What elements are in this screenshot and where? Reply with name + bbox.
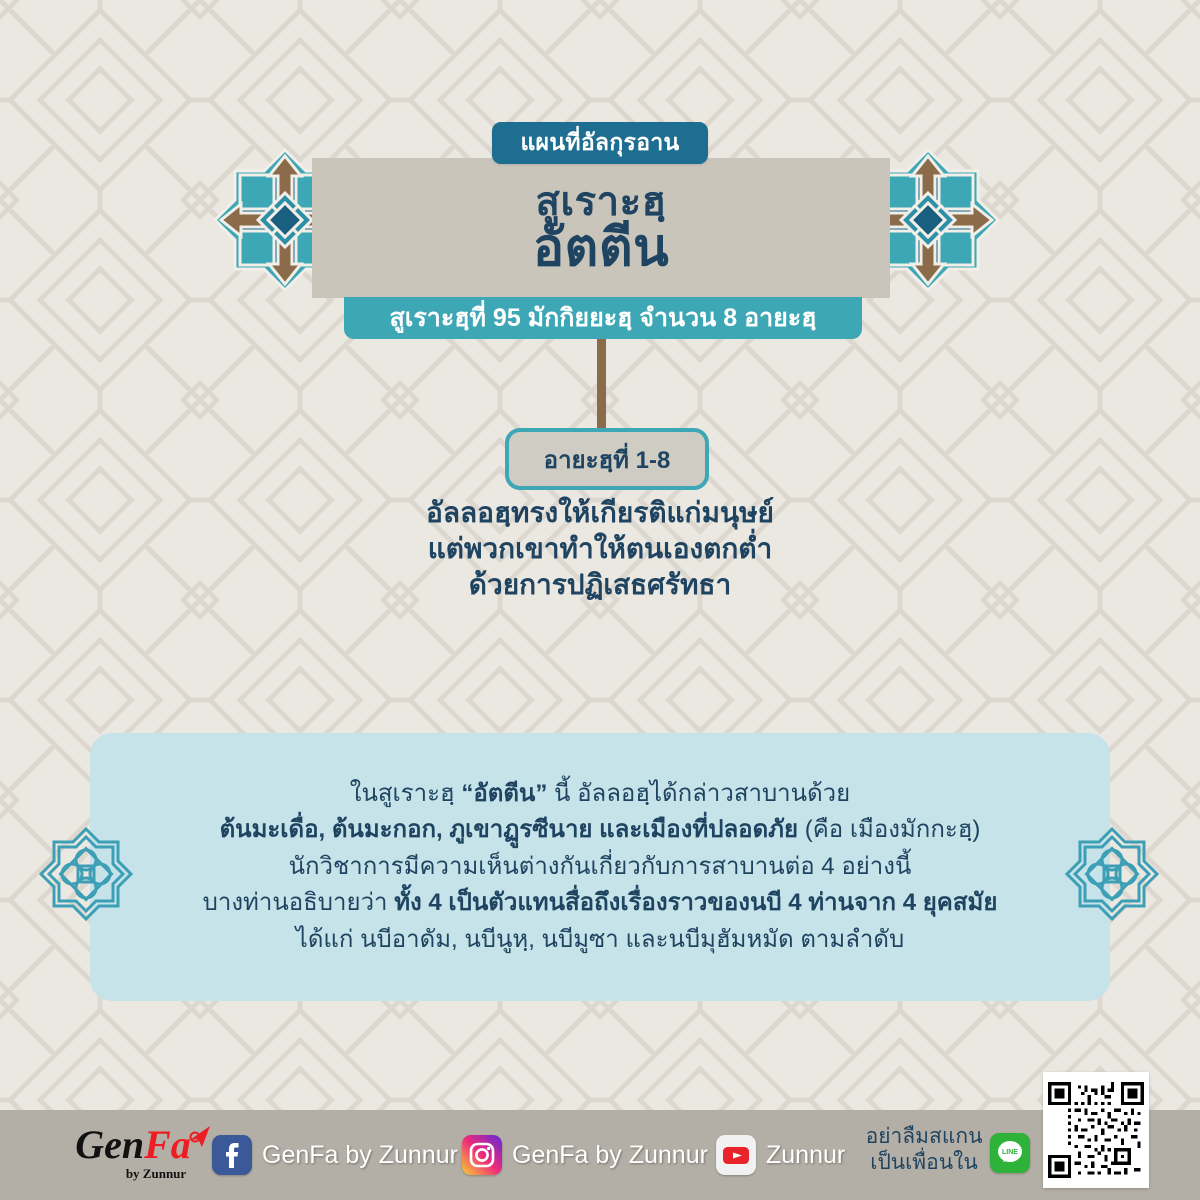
social-link-instagram[interactable]: GenFa by Zunnur (462, 1133, 708, 1177)
logo-text-gen: Gen (75, 1122, 144, 1167)
logo-text-fa: Fa (144, 1122, 191, 1167)
explanation-box: ในสูเราะฮฺ “อัตตีน” นี้ อัลลอฮฺได้กล่าวส… (90, 733, 1110, 1001)
islamic-star-outline-right-icon (1064, 826, 1160, 922)
explanation-line: บางท่านอธิบายว่า ทั้ง 4 เป็นตัวแทนสื่อถึ… (203, 885, 998, 921)
surah-meta-bar: สูเราะฮฺที่ 95 มักกิยยะฮฺ จำนวน 8 อายะฮฺ (344, 297, 862, 339)
instagram-label[interactable]: GenFa by Zunnur (512, 1141, 708, 1170)
surah-label: สูเราะฮฺ (536, 181, 667, 223)
title-banner: สูเราะฮฺ อัตตีน (312, 158, 890, 298)
facebook-icon[interactable] (212, 1135, 252, 1175)
explanation-line: ในสูเราะฮฺ “อัตตีน” นี้ อัลลอฮฺได้กล่าวส… (350, 776, 850, 812)
connector-line (597, 339, 606, 435)
social-link-youtube[interactable]: Zunnur (716, 1133, 845, 1177)
scan-line-2: เป็นเพื่อนใน (864, 1150, 984, 1176)
summary-line-1: อัลลอฮฺทรงให้เกียรติแก่มนุษย์ (0, 495, 1200, 531)
surah-name: อัตตีน (533, 221, 669, 276)
social-link-line[interactable]: LINE (990, 1133, 1030, 1173)
youtube-label[interactable]: Zunnur (766, 1141, 845, 1170)
logo-subtitle: by Zunnur (126, 1166, 186, 1182)
summary-line-2: แต่พวกเขาทำให้ตนเองตกต่ำ (0, 531, 1200, 567)
header-section: สูเราะฮฺ อัตตีน แผนที่อัลกุรอาน สูเราะฮฺ… (0, 0, 1200, 340)
line-icon[interactable]: LINE (990, 1133, 1030, 1173)
youtube-icon[interactable] (716, 1135, 756, 1175)
explanation-line: นักวิชาการมีความเห็นต่างกันเกี่ยวกับการส… (289, 849, 912, 885)
genfa-wordmark: GenFa (75, 1125, 191, 1165)
scan-instruction: อย่าลืมสแกน เป็นเพื่อนใน (864, 1124, 984, 1176)
quran-map-badge: แผนที่อัลกุรอาน (492, 122, 708, 164)
verse-summary: อัลลอฮฺทรงให้เกียรติแก่มนุษย์ แต่พวกเขาท… (0, 495, 1200, 602)
islamic-star-outline-left-icon (38, 826, 134, 922)
scan-line-1: อย่าลืมสแกน (864, 1124, 984, 1150)
genfa-arrow-icon (187, 1117, 213, 1143)
verse-range-badge: อายะฮฺที่ 1-8 (505, 428, 709, 490)
svg-text:LINE: LINE (1002, 1149, 1018, 1156)
facebook-label[interactable]: GenFa by Zunnur (262, 1141, 458, 1170)
explanation-line: ได้แก่ นบีอาดัม, นบีนูหฺ, นบีมูซา และนบี… (296, 922, 904, 958)
summary-line-3: ด้วยการปฏิเสธศรัทธา (0, 567, 1200, 603)
instagram-icon[interactable] (462, 1135, 502, 1175)
explanation-line: ต้นมะเดื่อ, ต้นมะกอก, ภูเขาฏูรซีนาย และเ… (220, 812, 981, 848)
genfa-logo: GenFa by Zunnur (48, 1122, 218, 1184)
social-link-facebook[interactable]: GenFa by Zunnur (212, 1133, 458, 1177)
qr-code-icon[interactable] (1043, 1072, 1149, 1188)
